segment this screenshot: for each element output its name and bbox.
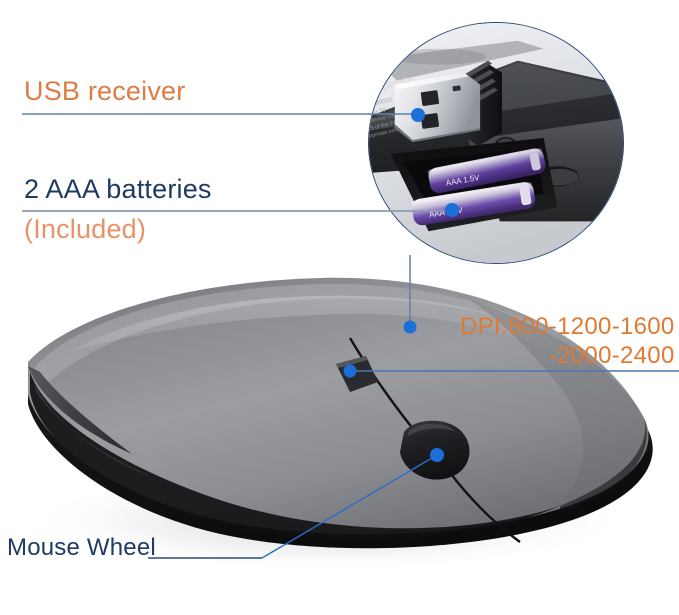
label-mouse-wheel: Mouse Wheel xyxy=(7,536,156,560)
callout-dot-dpi xyxy=(344,365,357,378)
button-seam-upper xyxy=(350,338,424,442)
label-usb-receiver: USB receiver xyxy=(24,78,185,105)
label-batteries-included: (Included) xyxy=(24,216,146,243)
callout-dot-inset-anchor xyxy=(404,321,417,334)
label-dpi-line2: -2000-2400 xyxy=(460,341,675,370)
leader-line-wheel-d xyxy=(262,455,437,558)
inset-illustration: Topmate M:KM9000 Rating:3V ⎓ 10mA This d… xyxy=(369,23,623,263)
label-dpi: DPI:800-1200-1600 -2000-2400 xyxy=(460,312,675,371)
dpi-button xyxy=(336,356,378,392)
infographic-canvas: Topmate M:KM9000 Rating:3V ⎓ 10mA This d… xyxy=(0,0,679,615)
callout-dot-mouse-wheel xyxy=(430,448,444,462)
scroll-wheel xyxy=(400,421,470,480)
inset-photo-battery-compartment: Topmate M:KM9000 Rating:3V ⎓ 10mA This d… xyxy=(368,22,624,264)
button-seam-lower xyxy=(448,470,520,542)
label-dpi-line1: DPI:800-1200-1600 xyxy=(460,313,675,340)
label-batteries: 2 AAA batteries xyxy=(24,176,212,203)
